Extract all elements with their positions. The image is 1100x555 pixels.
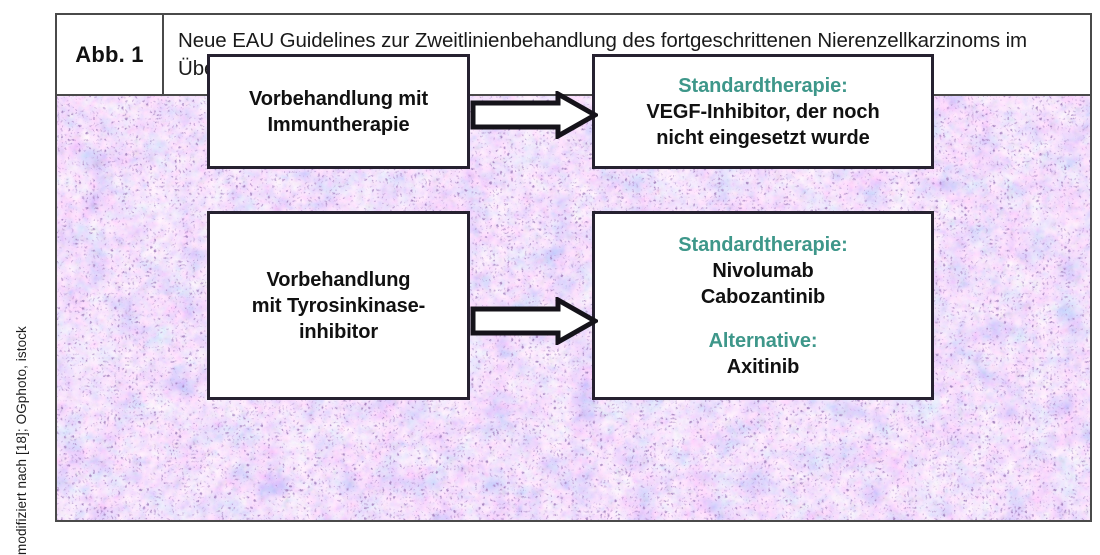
condition-line: Vorbehandlung — [267, 267, 411, 293]
recommendation-item: VEGF-Inhibitor, der noch — [646, 99, 879, 125]
recommendation-heading: Standardtherapie: — [678, 232, 847, 258]
recommendation-heading: Standardtherapie: — [678, 73, 847, 99]
recommendation-item: nicht eingesetzt wurde — [656, 125, 869, 151]
arrow-right-icon — [470, 91, 598, 139]
recommendation-heading: Alternative: — [709, 328, 818, 354]
recommendation-item: Nivolumab — [712, 258, 813, 284]
recommendation-item: Cabozantinib — [701, 284, 825, 310]
recommendation-box-row-1: Standardtherapie: VEGF-Inhibitor, der no… — [592, 54, 934, 169]
condition-line: Vorbehandlung mit — [249, 86, 428, 112]
figure-root: modifiziert nach [18]; OGphoto, istock A… — [0, 0, 1100, 543]
condition-line: Immuntherapie — [267, 112, 409, 138]
recommendation-item: Axitinib — [727, 354, 800, 380]
recommendation-box-row-2: Standardtherapie: Nivolumab Cabozantinib… — [592, 211, 934, 400]
condition-box-row-2: Vorbehandlung mit Tyrosinkinase- inhibit… — [207, 211, 470, 400]
condition-box-row-1: Vorbehandlung mit Immuntherapie — [207, 54, 470, 169]
condition-line: inhibitor — [299, 319, 378, 345]
figure-frame: Abb. 1 Neue EAU Guidelines zur Zweitlini… — [55, 13, 1092, 522]
figure-number-label: Abb. 1 — [57, 15, 164, 94]
image-credit: modifiziert nach [18]; OGphoto, istock — [14, 255, 29, 555]
arrow-right-icon — [470, 297, 598, 345]
condition-line: mit Tyrosinkinase- — [252, 293, 425, 319]
